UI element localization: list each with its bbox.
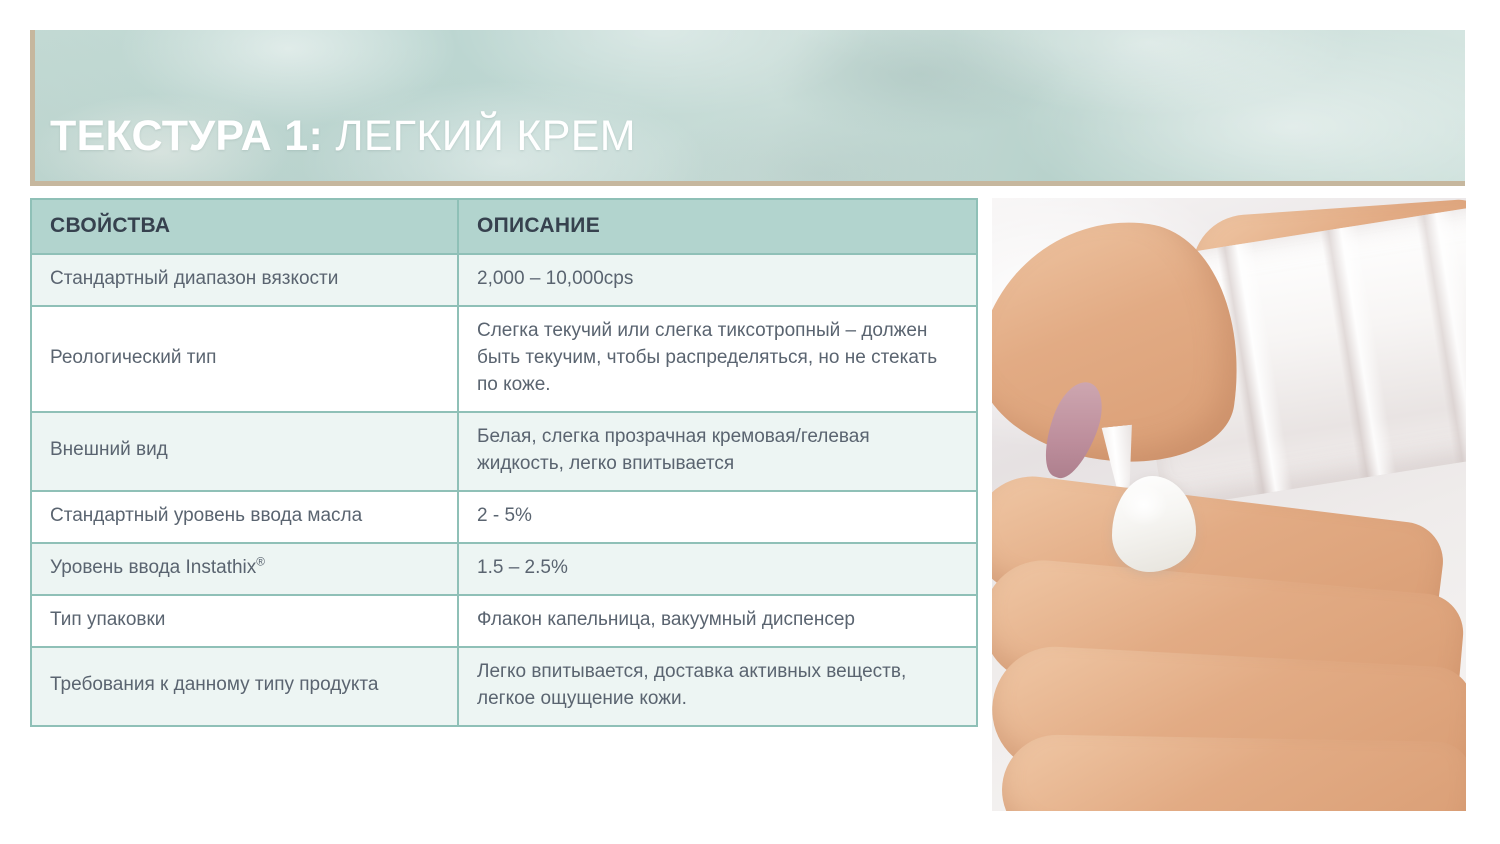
cell-description: 2,000 – 10,000cps [458, 254, 977, 306]
cell-property: Реологический тип [31, 306, 458, 412]
column-header-description: ОПИСАНИЕ [458, 199, 977, 254]
cell-property: Требования к данному типу продукта [31, 647, 458, 726]
table-header-row: СВОЙСТВА ОПИСАНИЕ [31, 199, 977, 254]
table-row: Реологический тип Слегка текучий или сле… [31, 306, 977, 412]
cell-property-text: Уровень ввода Instathix [50, 557, 256, 578]
cell-description: Белая, слегка прозрачная кремовая/гелева… [458, 412, 977, 491]
product-photo [992, 198, 1466, 811]
table-row: Стандартный уровень ввода масла 2 - 5% [31, 491, 977, 543]
title-banner: ТЕКСТУРА 1: ЛЕГКИЙ КРЕМ [30, 30, 1465, 186]
cell-property: Тип упаковки [31, 595, 458, 647]
cell-description: 1.5 – 2.5% [458, 543, 977, 595]
banner-background-texture [30, 30, 1465, 186]
registered-trademark-icon: ® [256, 555, 265, 568]
column-header-properties: СВОЙСТВА [31, 199, 458, 254]
table-row: Внешний вид Белая, слегка прозрачная кре… [31, 412, 977, 491]
page-title-strong: ТЕКСТУРА 1: [50, 112, 323, 160]
hand-finger-4 [1001, 734, 1466, 811]
cell-property: Уровень ввода Instathix® [31, 543, 458, 595]
cell-description: Слегка текучий или слегка тиксотропный –… [458, 306, 977, 412]
cell-property: Стандартный уровень ввода масла [31, 491, 458, 543]
banner-bottom-accent-bar [30, 181, 1465, 186]
table-row: Требования к данному типу продукта Легко… [31, 647, 977, 726]
cell-description: Флакон капельница, вакуумный диспенсер [458, 595, 977, 647]
cell-property: Стандартный диапазон вязкости [31, 254, 458, 306]
page-title: ТЕКСТУРА 1: ЛЕГКИЙ КРЕМ [50, 113, 636, 160]
specifications-table: СВОЙСТВА ОПИСАНИЕ Стандартный диапазон в… [30, 198, 978, 727]
table-row: Тип упаковки Флакон капельница, вакуумны… [31, 595, 977, 647]
page-title-light: ЛЕГКИЙ КРЕМ [335, 112, 636, 160]
cell-description: Легко впитывается, доставка активных вещ… [458, 647, 977, 726]
cell-property: Внешний вид [31, 412, 458, 491]
cell-description: 2 - 5% [458, 491, 977, 543]
banner-left-accent-bar [30, 30, 35, 186]
table-row: Стандартный диапазон вязкости 2,000 – 10… [31, 254, 977, 306]
table-row: Уровень ввода Instathix® 1.5 – 2.5% [31, 543, 977, 595]
